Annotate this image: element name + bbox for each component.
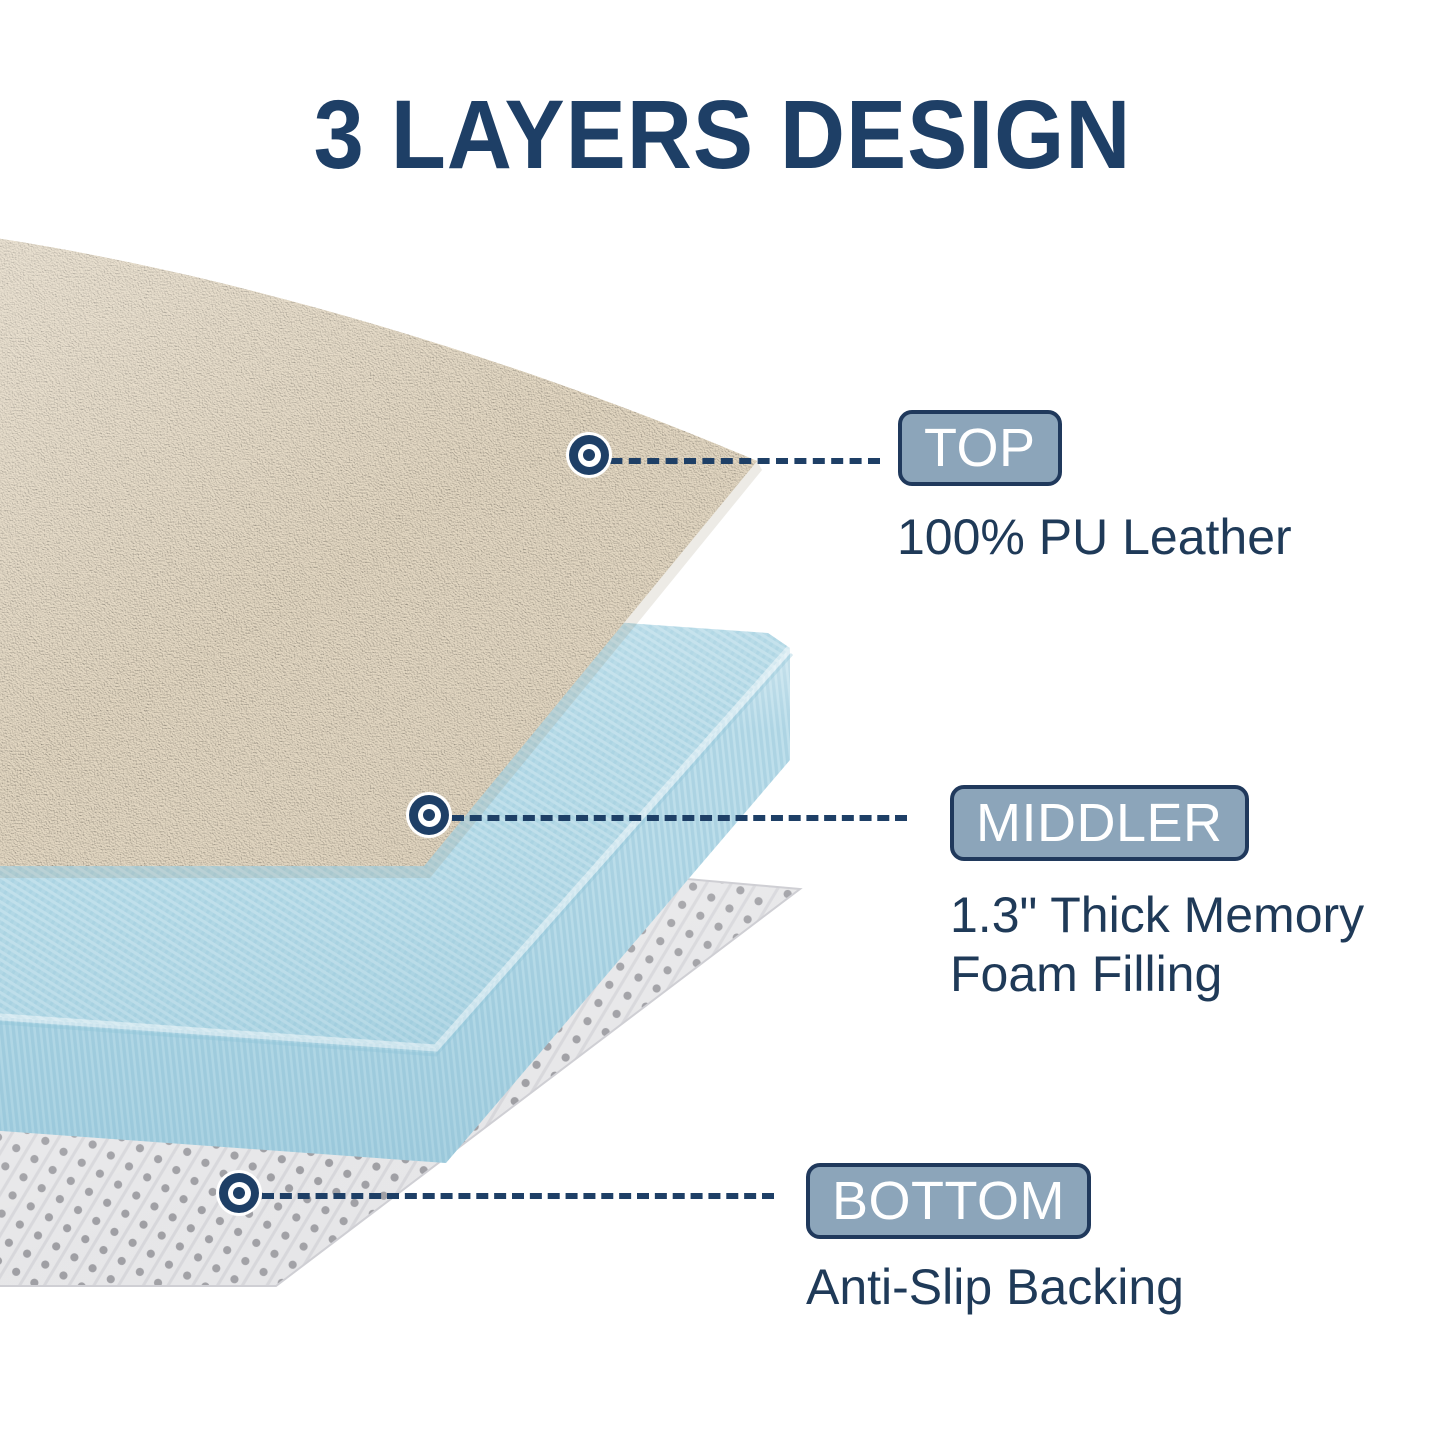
badge-bottom[interactable]: BOTTOM [806,1163,1091,1239]
caption-bottom: Anti-Slip Backing [806,1258,1326,1317]
target-icon-center-dot [423,809,435,821]
target-icon-center-dot [583,449,595,461]
target-icon-center-dot [233,1187,245,1199]
target-icon-middler [406,792,452,838]
leader-line-middler [452,815,907,821]
target-icon-bottom [216,1170,262,1216]
target-icon-inner-ring [578,444,601,467]
target-icon-inner-ring [418,804,441,827]
caption-middler: 1.3" Thick Memory Foam Filling [950,886,1445,1004]
target-icon-top [566,432,612,478]
leader-line-top [592,458,880,464]
three-layer-product-illustration [0,0,1445,1445]
infographic-canvas: 3 LAYERS DESIGN [0,0,1445,1445]
caption-top: 100% PU Leather [897,508,1417,567]
badge-middler[interactable]: MIDDLER [950,785,1249,861]
badge-top[interactable]: TOP [898,410,1062,486]
target-icon-outer-ring [569,435,609,475]
target-icon-outer-ring [219,1173,259,1213]
target-icon-outer-ring [409,795,449,835]
leader-line-bottom [262,1193,774,1199]
target-icon-inner-ring [228,1182,251,1205]
